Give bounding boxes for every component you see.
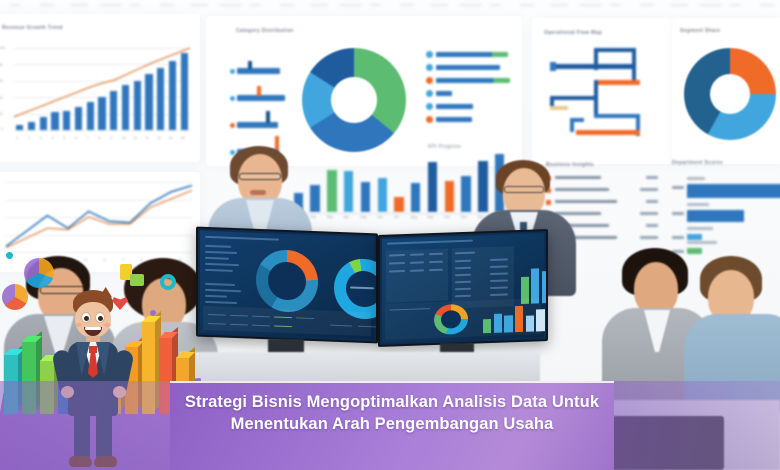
- chip-green: [130, 274, 144, 286]
- wall-tick: [340, 4, 362, 6]
- axis-tick: 8: [98, 136, 100, 140]
- dot-teal: [6, 252, 13, 259]
- axis-tick: May: [360, 215, 366, 219]
- axis-tick: Apr: [344, 215, 349, 219]
- axis-tick: 6: [75, 136, 77, 140]
- dept-label: [672, 212, 684, 215]
- monitor-bar: [515, 306, 523, 333]
- growth-chart-body: 100 80 60 40 20 0 123456789101112131415: [0, 42, 194, 148]
- dot-purple: [150, 310, 156, 316]
- progress-bar: [436, 78, 510, 83]
- indicator-dot: [230, 123, 235, 128]
- monitor-left: [196, 227, 378, 344]
- panel-growth-bar-line: Revenue Growth Trend 100 80 60 40 20 0: [0, 14, 200, 162]
- axis-tick: Oct: [444, 215, 449, 219]
- wall-tick: [400, 4, 414, 6]
- axis-tick: 13: [157, 136, 161, 140]
- wall-tick: [670, 4, 688, 6]
- dual-line-body: 50 40 30 20 0: [6, 182, 192, 252]
- cartoon-pie-icon-2: [24, 258, 54, 288]
- axis-tick: 3: [40, 136, 42, 140]
- dept-caption: [687, 203, 709, 206]
- page-title: Strategi Bisnis Mengoptimalkan Analisis …: [182, 392, 602, 436]
- axis-tick: 15: [181, 136, 185, 140]
- wall-tick: [250, 4, 260, 6]
- bar: [344, 171, 353, 212]
- wall-tick: [280, 4, 294, 6]
- indicator-dot: [230, 69, 235, 74]
- dept-bar: [687, 210, 744, 222]
- wall-tick: [40, 4, 54, 6]
- bar: [327, 170, 336, 212]
- panel-segment-donut: Segment Share: [672, 18, 780, 164]
- axis-tick: Mar: [327, 215, 333, 219]
- wall-tick: [160, 4, 174, 6]
- dept-label: [672, 236, 684, 239]
- banner-left-wing: [0, 381, 172, 470]
- title-line-2: Menentukan Arah Pengembangan Usaha: [231, 415, 554, 433]
- bar: [394, 197, 403, 212]
- axis-tick: 4: [52, 136, 54, 140]
- panel-horizontal-bars: Department Scores: [664, 154, 780, 254]
- axis-tick: 9: [110, 136, 112, 140]
- axis-tick: 1: [16, 136, 18, 140]
- axis-tick: Jun: [377, 215, 382, 219]
- wall-tick: [220, 4, 242, 6]
- indicator-row: [230, 52, 292, 74]
- title-line-1: Strategi Bisnis Mengoptimalkan Analisis …: [185, 393, 599, 411]
- monitor-bar: [483, 319, 491, 334]
- panel-process-flow: Operational Flow Map: [532, 18, 672, 164]
- progress-bar: [436, 117, 472, 122]
- axis-tick: 14: [169, 136, 173, 140]
- indicator-row: [230, 106, 292, 128]
- row-marker: [426, 103, 433, 110]
- bar: [428, 162, 437, 212]
- axis-tick: Nov: [461, 215, 467, 219]
- banner-right-wing: [612, 381, 780, 470]
- axis-tick: 12: [145, 136, 149, 140]
- wall-tick: [550, 4, 568, 6]
- axis-tick: 5: [63, 136, 65, 140]
- indicator-spike: [266, 111, 270, 123]
- wall-tick: [130, 4, 140, 6]
- wall-tick: [460, 4, 482, 6]
- panel-title-departments: Department Scores: [672, 160, 723, 166]
- wall-tick: [370, 4, 380, 6]
- wall-tick: [190, 4, 208, 6]
- axis-tick: Sep: [428, 215, 434, 219]
- panel-title-flow: Operational Flow Map: [544, 30, 602, 36]
- monitor-right: [378, 229, 548, 347]
- title-banner: Strategi Bisnis Mengoptimalkan Analisis …: [170, 381, 614, 470]
- dept-label: [672, 186, 684, 189]
- axis-tick: 10: [122, 136, 126, 140]
- wall-tick: [310, 4, 328, 6]
- row-marker: [426, 90, 433, 97]
- wall-tick: [520, 4, 534, 6]
- dept-bar: [687, 234, 702, 240]
- bar: [411, 183, 420, 212]
- bar: [378, 178, 387, 212]
- segment-donut-chart: [684, 48, 776, 140]
- indicator-spike: [248, 61, 252, 69]
- dept-bar: [687, 184, 780, 198]
- wall-tick: [10, 4, 20, 6]
- panel-title-segment: Segment Share: [680, 28, 720, 34]
- axis-tick: 2: [28, 136, 30, 140]
- indicator-dot: [230, 96, 235, 101]
- indicator-spike: [257, 86, 261, 96]
- monitor-bar: [504, 315, 512, 333]
- hero-image: Revenue Growth Trend 100 80 60 40 20 0: [0, 0, 780, 470]
- row-marker: [426, 116, 433, 123]
- row-marker: [426, 51, 433, 58]
- cartoon-pie-icon: [2, 284, 28, 310]
- bar: [461, 176, 470, 212]
- wall-tick: [760, 4, 774, 6]
- wall-tick: [700, 4, 722, 6]
- monitor-bar: [494, 314, 502, 333]
- dept-caption: [687, 177, 705, 180]
- wall-tick: [430, 4, 448, 6]
- indicator-bar: [237, 95, 285, 101]
- wall-tick: [70, 4, 88, 6]
- progress-bar: [436, 65, 500, 70]
- progress-bar: [436, 52, 508, 57]
- wall-tick: [580, 4, 602, 6]
- indicator-row: [230, 79, 292, 101]
- row-marker: [426, 77, 433, 84]
- wall-top-ticks: [0, 2, 780, 9]
- department-horizontal-bars: [672, 174, 780, 250]
- dept-caption: [687, 227, 713, 230]
- wall-tick: [640, 4, 654, 6]
- monitor-bar: [536, 310, 544, 332]
- axis-tick: 11: [134, 136, 138, 140]
- wall-tick: [610, 4, 620, 6]
- bar: [445, 181, 454, 212]
- panel-title-category: Category Distribution: [236, 28, 293, 34]
- row-marker: [426, 64, 433, 71]
- bar: [361, 182, 370, 212]
- monitor-bar: [526, 315, 534, 331]
- wall-tick: [100, 4, 122, 6]
- monitor-bar: [542, 271, 548, 304]
- indicator-bar: [237, 68, 280, 74]
- panel-category-donut: Category Distribution KPI Progress: [206, 16, 522, 166]
- indicator-bar: [237, 122, 278, 128]
- axis-tick: Aug: [411, 215, 417, 219]
- panel-title-growth: Revenue Growth Trend: [2, 25, 63, 31]
- progress-bar: [436, 91, 452, 96]
- wall-tick: [730, 4, 740, 6]
- ring-teal-icon: [160, 274, 176, 290]
- category-donut-chart: [302, 48, 406, 152]
- progress-bar: [436, 104, 473, 109]
- axis-tick: Jul: [394, 215, 398, 219]
- kpi-progress-bars: [424, 52, 516, 132]
- wall-tick: [490, 4, 500, 6]
- dept-caption: [687, 241, 717, 244]
- axis-tick: 7: [87, 136, 89, 140]
